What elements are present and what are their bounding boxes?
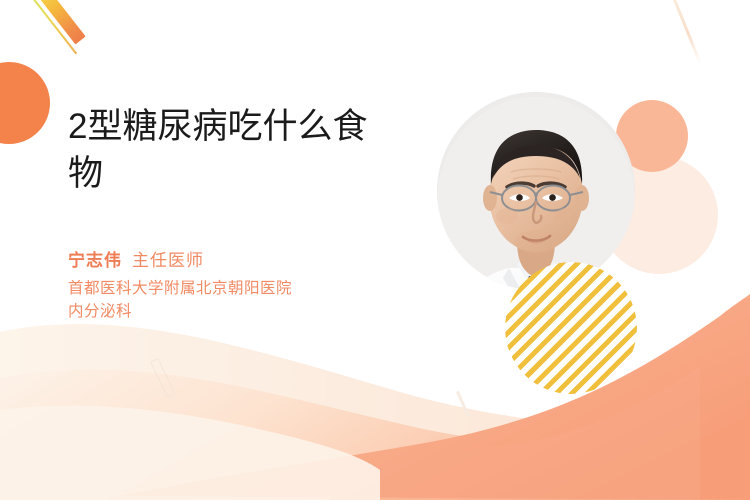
doctor-info: 宁志伟主任医师 首都医科大学附属北京朝阳医院 内分泌科 <box>68 246 408 324</box>
page-title: 2型糖尿病吃什么食 物 <box>68 104 398 197</box>
orange-diagonal-streak-icon <box>36 0 86 44</box>
avatar <box>437 92 635 290</box>
doctor-hospital: 首都医科大学附属北京朝阳医院 <box>68 277 408 300</box>
doctor-article-cover-card: 2型糖尿病吃什么食 物 宁志伟主任医师 首都医科大学附属北京朝阳医院 内分泌科 <box>0 0 750 500</box>
doctor-name-row: 宁志伟主任医师 <box>68 246 408 271</box>
page-title-line-2: 物 <box>68 151 398 198</box>
avatar-disc-background <box>437 92 635 290</box>
page-title-line-1: 2型糖尿病吃什么食 <box>68 104 398 151</box>
faint-diagonal-streak-right-icon <box>669 0 702 64</box>
orange-circle-decoration <box>0 62 50 144</box>
doctor-title: 主任医师 <box>132 251 204 270</box>
doctor-name: 宁志伟 <box>68 251 122 270</box>
faint-outline-slash-icon <box>150 358 176 398</box>
yellow-striped-disc-decoration <box>505 262 637 394</box>
faint-slash-right-icon <box>456 391 470 418</box>
doctor-department: 内分泌科 <box>68 300 408 323</box>
doctor-portrait-icon <box>437 92 635 290</box>
yellow-diagonal-streak-icon <box>30 0 77 54</box>
